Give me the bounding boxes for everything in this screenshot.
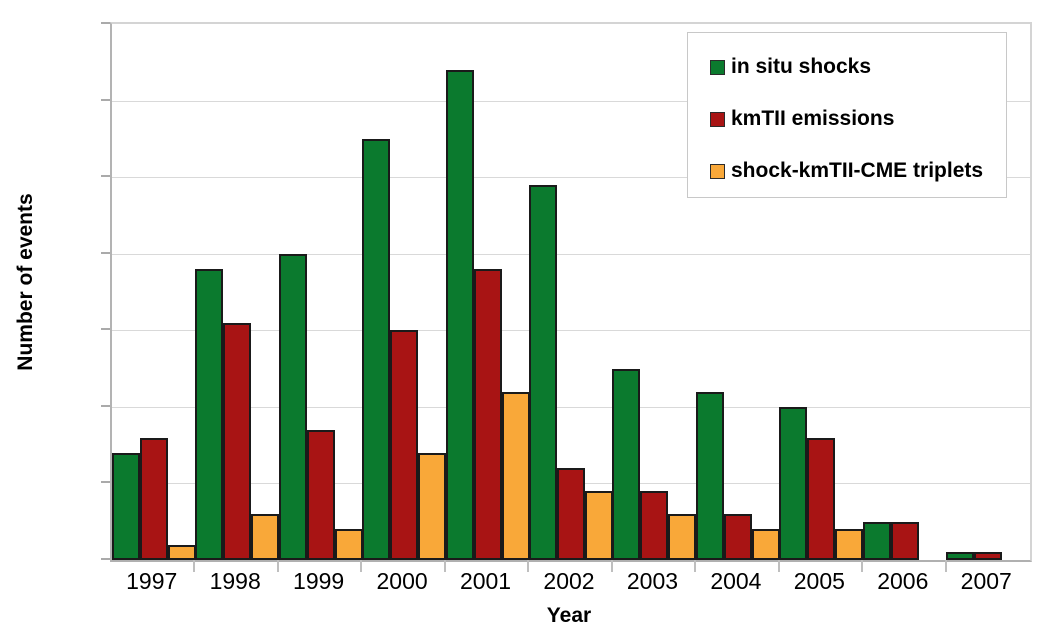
bar-group [529,24,613,560]
bar[interactable] [112,453,140,560]
bar-group [279,24,363,560]
bar-chart: Number of events 010203040506070 1997199… [0,0,1049,638]
bar[interactable] [335,529,363,560]
bar[interactable] [390,330,418,560]
y-tick-mark [101,99,110,101]
y-tick-mark [101,481,110,483]
x-tick-label: 2007 [926,568,1046,595]
bar[interactable] [195,269,223,560]
bar[interactable] [891,522,919,560]
legend-label: shock-kmTII-CME triplets [731,159,983,183]
bar[interactable] [863,522,891,560]
bar[interactable] [585,491,613,560]
bar[interactable] [779,407,807,560]
legend-item[interactable]: kmTII emissions [710,107,894,131]
bar[interactable] [362,139,390,560]
x-axis-title: Year [110,604,1028,628]
legend-item[interactable]: in situ shocks [710,55,871,79]
bar[interactable] [557,468,585,560]
bar-group [446,24,530,560]
bar[interactable] [696,392,724,560]
bar[interactable] [502,392,530,560]
y-tick-mark [101,405,110,407]
bar[interactable] [640,491,668,560]
bar[interactable] [529,185,557,560]
legend-swatch-icon [710,60,725,75]
bar[interactable] [140,438,168,561]
legend-item[interactable]: shock-kmTII-CME triplets [710,159,983,183]
bar[interactable] [474,269,502,560]
y-tick-mark [101,22,110,24]
bar-group [195,24,279,560]
y-tick-mark [101,175,110,177]
y-tick-mark [101,328,110,330]
y-axis-title: Number of events [14,172,38,392]
y-tick-mark [101,558,110,560]
bar[interactable] [752,529,780,560]
chart-legend: in situ shockskmTII emissionsshock-kmTII… [687,32,1007,198]
bar[interactable] [946,552,974,560]
bar[interactable] [807,438,835,561]
legend-swatch-icon [710,164,725,179]
bar[interactable] [612,369,640,560]
legend-label: kmTII emissions [731,107,894,131]
bar[interactable] [418,453,446,560]
bar[interactable] [668,514,696,560]
legend-label: in situ shocks [731,55,871,79]
y-tick-mark [101,252,110,254]
legend-swatch-icon [710,112,725,127]
bar[interactable] [279,254,307,560]
bar[interactable] [446,70,474,560]
bar[interactable] [307,430,335,560]
bar-group [112,24,196,560]
bar[interactable] [835,529,863,560]
bar[interactable] [974,552,1002,560]
bar[interactable] [251,514,279,560]
bar[interactable] [168,545,196,560]
bar[interactable] [223,323,251,560]
bar[interactable] [724,514,752,560]
bar-group [362,24,446,560]
bar-group [612,24,696,560]
